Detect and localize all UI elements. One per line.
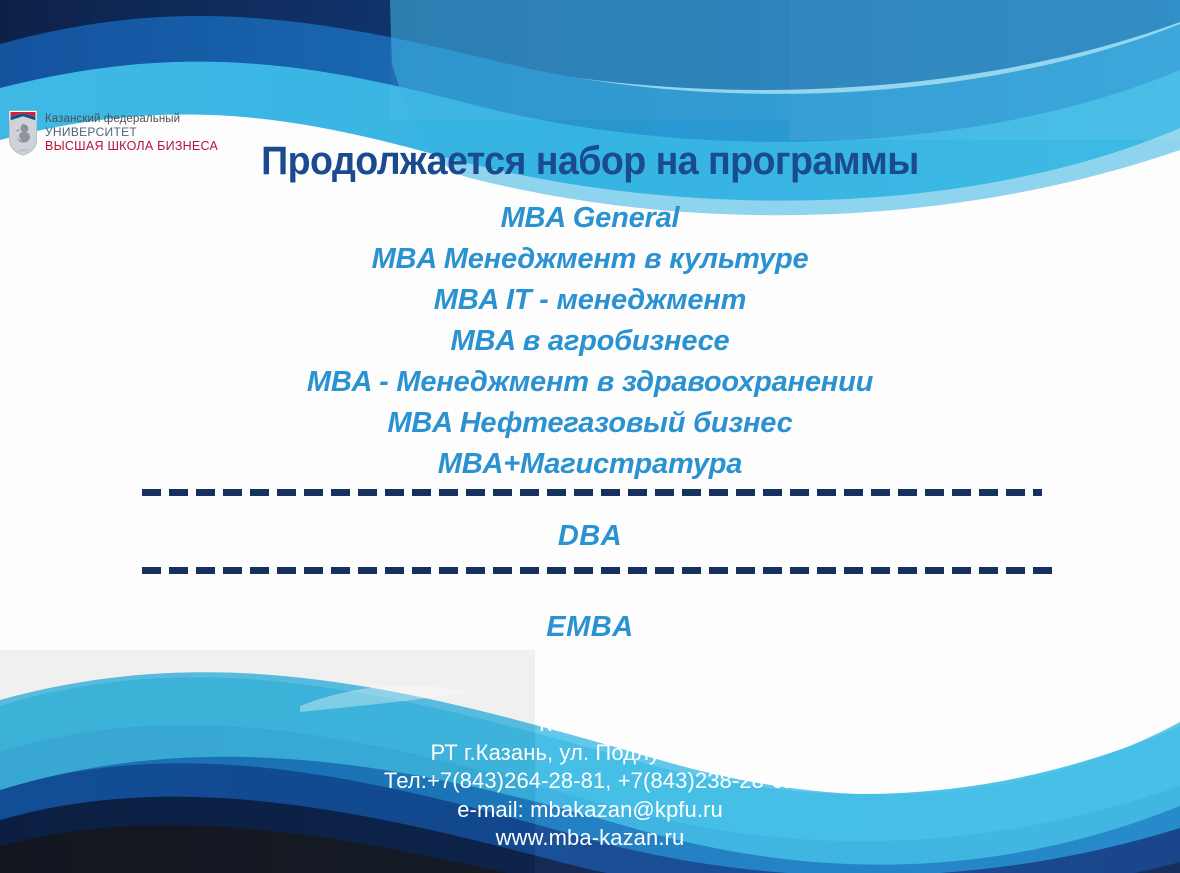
program-item-emba: EMBA — [0, 611, 1180, 644]
program-item-mba-oil-gas-business: MBA Нефтегазовый бизнес — [0, 403, 1180, 444]
logo-line-university-name: Казанский федеральный — [45, 113, 218, 126]
contacts-website: www.mba-kazan.ru — [0, 824, 1180, 853]
page-title: Продолжается набор на программы — [35, 139, 1144, 184]
promo-slide: 1804 Казанский федеральный УНИВЕРСИТЕТ В… — [0, 0, 1180, 873]
svg-text:1804: 1804 — [18, 149, 28, 153]
contacts-address: РТ г.Казань, ул. Подлужная д.5 — [0, 739, 1180, 768]
contacts-block: Контакты: РТ г.Казань, ул. Подлужная д.5… — [0, 710, 1180, 853]
program-item-mba-plus-masters: MBA+Магистратура — [0, 444, 1180, 485]
contacts-email: e-mail: mbakazan@kpfu.ru — [0, 796, 1180, 825]
contacts-phone: Тел:+7(843)264-28-81, +7(843)238-28-02 — [0, 767, 1180, 796]
program-list: MBA General MBA Менеджмент в культуре MB… — [0, 198, 1180, 485]
program-item-mba-healthcare-management: MBA - Менеджмент в здравоохранении — [0, 362, 1180, 403]
dashed-divider-top — [142, 489, 1042, 496]
program-item-mba-it-management: MBA IT - менеджмент — [0, 280, 1180, 321]
dashed-divider-bottom — [142, 567, 1057, 574]
university-shield-icon: 1804 — [8, 110, 38, 156]
contacts-heading: Контакты: — [0, 710, 1180, 739]
program-item-dba: DBA — [0, 520, 1180, 553]
program-item-mba-general: MBA General — [0, 198, 1180, 239]
program-item-mba-agribusiness: MBA в агробизнесе — [0, 321, 1180, 362]
program-item-mba-culture-management: MBA Менеджмент в культуре — [0, 239, 1180, 280]
logo-line-university: УНИВЕРСИТЕТ — [45, 126, 218, 139]
